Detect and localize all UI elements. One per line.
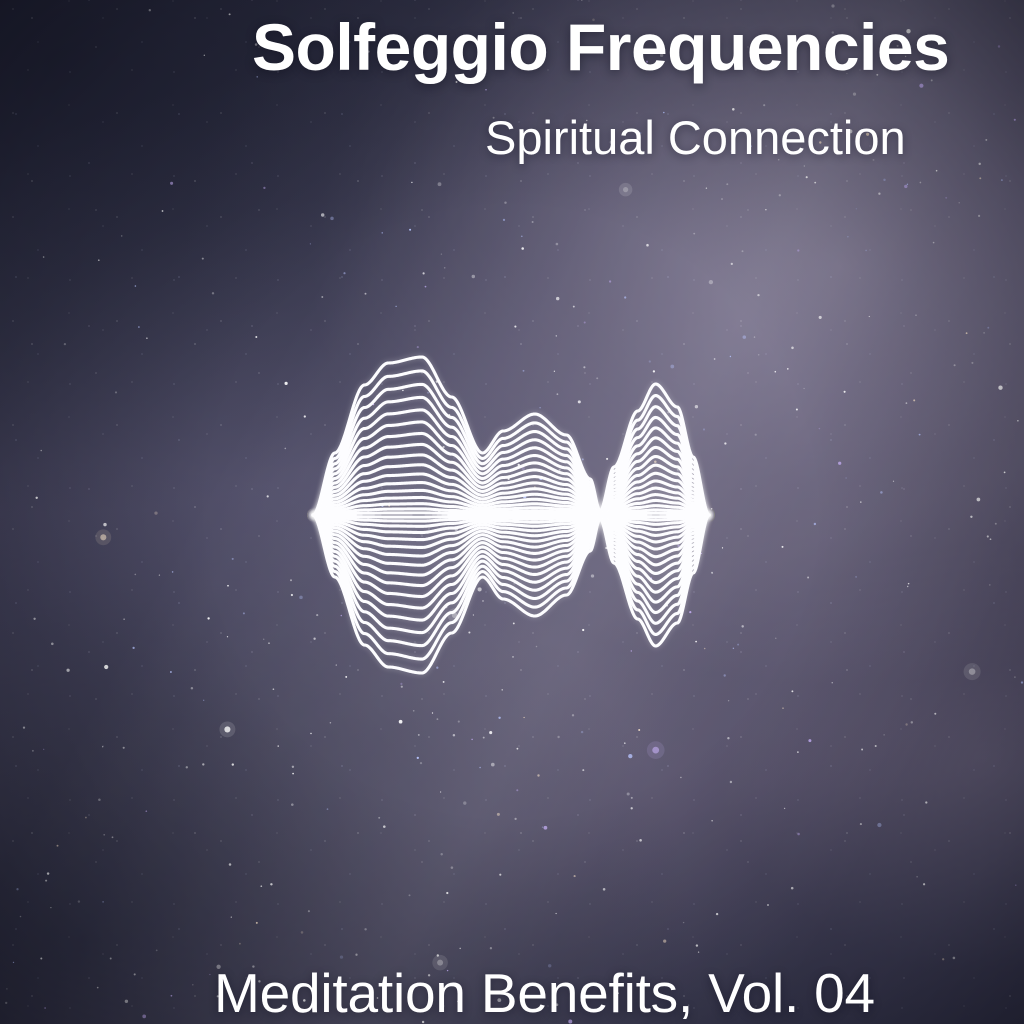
album-cover: Solfeggio Frequencies Spiritual Connecti…	[0, 0, 1024, 1024]
album-volume-label: Meditation Benefits, Vol. 04	[214, 963, 875, 1024]
album-title: Solfeggio Frequencies	[252, 13, 949, 82]
album-subtitle: Spiritual Connection	[485, 112, 906, 164]
